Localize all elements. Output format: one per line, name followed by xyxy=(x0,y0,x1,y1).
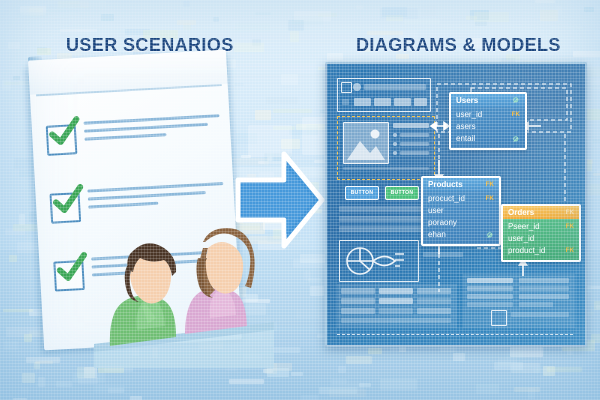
field-name: poraony xyxy=(428,218,457,228)
key-icon xyxy=(513,136,520,143)
field-name: ehan xyxy=(428,230,446,240)
table-row: ehan xyxy=(423,229,499,241)
field-name: procuct_id xyxy=(428,194,465,204)
field-name: entail xyxy=(456,134,475,144)
field-name: user xyxy=(428,206,444,216)
list-item xyxy=(45,112,224,180)
users-table-title: Users xyxy=(456,96,478,105)
table-row: user xyxy=(423,205,499,217)
fk-badge: FK xyxy=(566,222,574,232)
table-row: user_id xyxy=(503,233,579,245)
table-row: user_id FK xyxy=(451,109,525,121)
field-name: Pseer_id xyxy=(508,222,540,232)
key-icon xyxy=(487,232,494,239)
users-table[interactable]: Users user_id FK asers entail xyxy=(449,92,527,150)
arrow-right-icon xyxy=(236,146,324,254)
text-lines xyxy=(84,114,223,146)
users-table-body: user_id FK asers entail xyxy=(451,107,525,148)
fk-badge: FK xyxy=(566,210,574,216)
fk-badge: FK xyxy=(486,182,494,188)
orders-table-body: Pseer_id FK user_id product_id FK xyxy=(503,219,579,260)
check-mark-icon xyxy=(46,115,82,151)
field-name: user_id xyxy=(456,110,482,120)
checkbox[interactable] xyxy=(50,192,82,224)
field-name: user_id xyxy=(508,234,534,244)
orders-table-title: Orders xyxy=(508,208,534,217)
check-mark-icon xyxy=(50,183,86,219)
person-male xyxy=(110,243,176,346)
field-name: product_id xyxy=(508,246,545,256)
products-table-body: procuct_id FK user poraony ehan xyxy=(423,191,499,244)
table-row: procuct_id FK xyxy=(423,193,499,205)
fk-badge: FK xyxy=(566,246,574,256)
board-header-area xyxy=(28,50,228,95)
diagrams-panel: BUTTON BUTTON xyxy=(325,62,587,347)
orders-table-header: Orders FK xyxy=(503,206,579,219)
checkbox[interactable] xyxy=(53,260,85,292)
table-row: product_id FK xyxy=(503,245,579,257)
infographic-canvas: USER SCENARIOS DIAGRAMS & MODELS xyxy=(0,0,600,400)
page-title-right: DIAGRAMS & MODELS xyxy=(356,35,561,56)
orders-table[interactable]: Orders FK Pseer_id FK user_id product_id… xyxy=(501,204,581,262)
field-name: asers xyxy=(456,122,476,132)
users-table-header: Users xyxy=(451,94,525,107)
products-table[interactable]: Products FK procuct_id FK user poraony e… xyxy=(421,176,501,246)
key-icon xyxy=(513,97,520,104)
table-row: Pseer_id FK xyxy=(503,221,579,233)
products-table-title: Products xyxy=(428,180,463,189)
table-row: poraony xyxy=(423,217,499,229)
text-lines xyxy=(87,182,226,214)
fk-badge: FK xyxy=(486,194,494,204)
products-table-header: Products FK xyxy=(423,178,499,191)
fk-badge: FK xyxy=(512,110,520,120)
checkbox[interactable] xyxy=(46,124,78,156)
check-mark-icon xyxy=(54,251,90,287)
table-row: entail xyxy=(451,133,525,145)
table-row: asers xyxy=(451,121,525,133)
